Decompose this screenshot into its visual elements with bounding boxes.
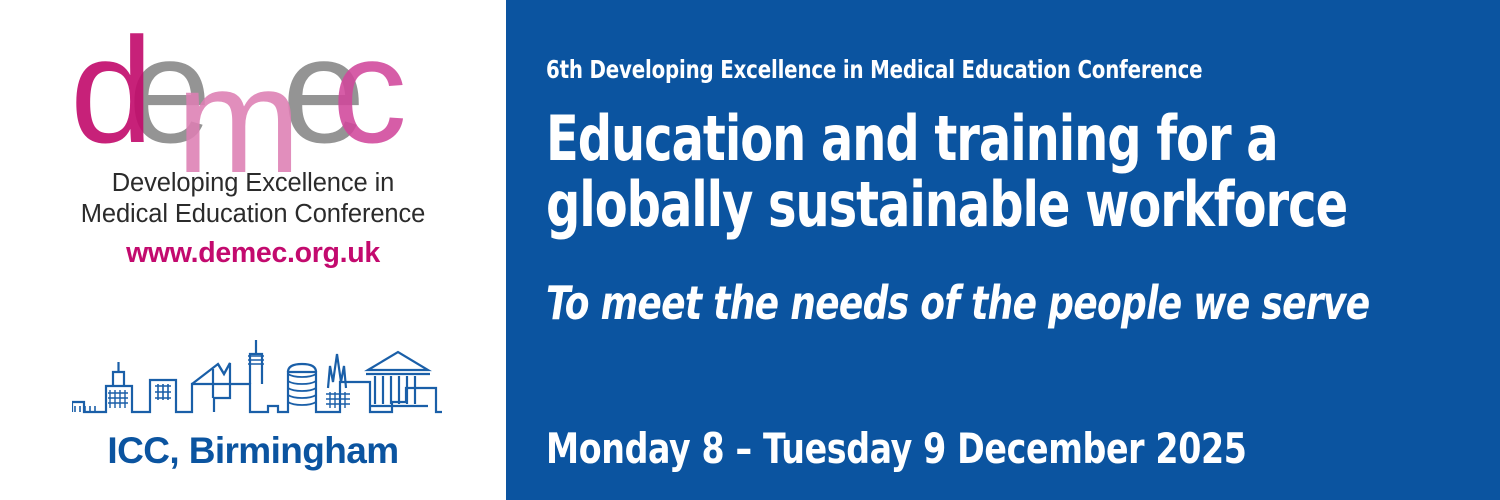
logo-strapline-line2: Medical Education Conference bbox=[0, 199, 506, 230]
birmingham-skyline-icon bbox=[72, 336, 442, 424]
logo-panel: e e d c m Developing Excellence in Medic… bbox=[0, 0, 506, 500]
conference-subheadline: To meet the needs of the people we serve bbox=[546, 276, 1369, 330]
conference-headline-line2: globally sustainable workforce bbox=[546, 172, 1347, 238]
skyline-temple-columns bbox=[375, 376, 415, 404]
skyline-cathedral-windows bbox=[326, 392, 350, 408]
logo-letter-c: c bbox=[332, 22, 407, 172]
skyline-office-top bbox=[113, 372, 124, 386]
logo-letter-m: m bbox=[176, 36, 301, 172]
skyline-selfridges-peak bbox=[218, 363, 230, 374]
venue-label: ICC, Birmingham bbox=[0, 430, 506, 472]
skyline-office-windows bbox=[108, 390, 128, 408]
conference-dates: Monday 8 – Tuesday 9 December 2025 bbox=[546, 424, 1247, 473]
skyline-temple-pediment bbox=[368, 352, 428, 370]
conference-headline: Education and training for a globally su… bbox=[546, 106, 1347, 238]
demec-wordmark-logo: e e d c m bbox=[70, 22, 450, 172]
skyline-selfridges bbox=[192, 363, 230, 412]
demec-wordmark-svg: e e d c m bbox=[70, 22, 450, 172]
birmingham-skyline-svg bbox=[72, 336, 442, 424]
logo-letter-d: d bbox=[70, 22, 153, 172]
logo-strapline-line1: Developing Excellence in bbox=[112, 169, 395, 197]
logo-strapline: Developing Excellence in Medical Educati… bbox=[0, 168, 506, 230]
skyline-rotunda-top bbox=[288, 364, 316, 372]
skyline-slab-windows bbox=[155, 384, 171, 400]
skyline-bt-tower-shaft bbox=[250, 354, 262, 384]
website-url[interactable]: www.demec.org.uk bbox=[0, 237, 506, 270]
conference-headline-line1: Education and training for a bbox=[546, 106, 1347, 172]
demec-conference-banner: e e d c m Developing Excellence in Medic… bbox=[0, 0, 1500, 500]
conference-info-panel: 6th Developing Excellence in Medical Edu… bbox=[506, 0, 1500, 500]
skyline-rotunda-bands bbox=[288, 374, 316, 405]
conference-eyebrow-title: 6th Developing Excellence in Medical Edu… bbox=[546, 55, 1202, 84]
